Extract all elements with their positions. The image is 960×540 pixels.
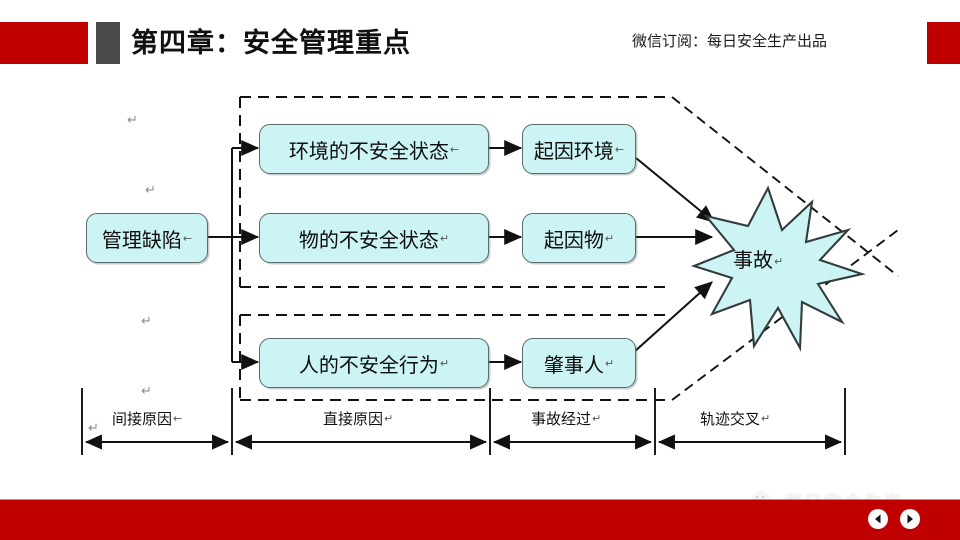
pilcrow-mark: ↵ [605,232,614,245]
node-label: 人的不安全行为 [299,349,439,378]
header-red-block-right [927,22,960,64]
slide-navigation [868,509,920,529]
axis-label-trajectory-crossing: 轨迹交叉↵ [700,408,770,429]
pilcrow-mark: ← [450,143,459,156]
node-label: 管理缺陷 [102,224,182,253]
header-gray-block [96,22,120,64]
accident-causation-diagram: 管理缺陷← 环境的不安全状态← 物的不安全状态↵ 人的不安全行为↵ 起因环境← … [0,70,960,490]
pilcrow-mark: ↵ [774,255,783,268]
pilcrow-mark: ↵ [592,412,601,425]
node-management-defect[interactable]: 管理缺陷← [86,213,208,263]
arrow-right-icon[interactable] [900,509,920,529]
node-accident-label[interactable]: 事故↵ [733,244,783,273]
node-label: 起因环境 [534,135,614,164]
pilcrow-mark: ↵ [384,412,393,425]
node-unsafe-object-state[interactable]: 物的不安全状态↵ [259,213,489,263]
pilcrow-mark: ↵ [440,357,449,370]
page-title: 第四章：安全管理重点 [131,24,411,62]
axis-label-text: 轨迹交叉 [700,410,760,428]
pilcrow-mark: ↵ [761,412,770,425]
node-culprit[interactable]: 肇事人↵ [522,338,636,388]
arrow-cause-env-to-accident [636,158,714,222]
header-subscription-note: 微信订阅：每日安全生产出品 [632,32,827,52]
stray-pilcrow-5: ↵ [88,420,99,436]
stray-pilcrow-1: ↵ [127,112,138,128]
node-label: 起因物 [544,224,604,253]
slide-canvas: 第四章：安全管理重点 微信订阅：每日安全生产出品 [0,0,960,540]
axis-label-indirect-cause: 间接原因← [112,408,182,429]
stray-pilcrow-4: ↵ [141,383,152,399]
node-label: 肇事人 [544,349,604,378]
arrow-left-icon[interactable] [868,509,888,529]
axis-label-direct-cause: 直接原因↵ [323,408,393,429]
node-cause-object[interactable]: 起因物↵ [522,213,636,263]
pilcrow-mark: ← [183,232,192,245]
stray-pilcrow-2: ↵ [145,182,156,198]
pilcrow-mark: ↵ [605,357,614,370]
node-label: 物的不安全状态 [299,224,439,253]
axis-label-text: 直接原因 [323,410,383,428]
node-label: 环境的不安全状态 [289,135,449,164]
axis-label-text: 间接原因 [112,410,172,428]
pilcrow-mark: ← [615,143,624,156]
node-unsafe-environment-state[interactable]: 环境的不安全状态← [259,124,489,174]
footer-red-bar [0,500,960,540]
node-label: 事故 [733,248,773,272]
pilcrow-mark: ← [173,412,182,425]
header-red-block-left [0,22,88,64]
arrow-culprit-to-accident [634,282,712,352]
axis-label-accident-process: 事故经过↵ [531,408,601,429]
axis-label-text: 事故经过 [531,410,591,428]
pilcrow-mark: ↵ [440,232,449,245]
node-unsafe-human-behavior[interactable]: 人的不安全行为↵ [259,338,489,388]
node-cause-environment[interactable]: 起因环境← [522,124,636,174]
stray-pilcrow-3: ↵ [141,313,152,329]
